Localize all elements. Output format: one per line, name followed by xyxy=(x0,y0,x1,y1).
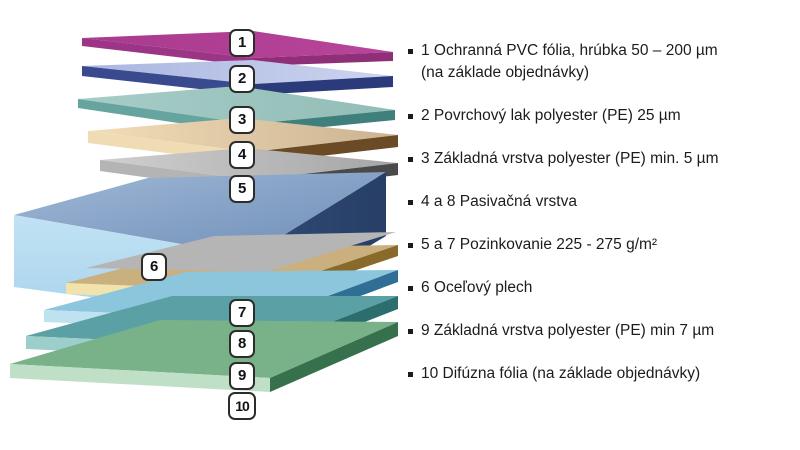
layer-badge-2[interactable]: 2 xyxy=(229,65,255,93)
legend-item-4: 4 a 8 Pasivačná vrstva xyxy=(408,191,796,213)
layer-badge-9[interactable]: 9 xyxy=(229,362,255,390)
legend-item-3-label: 3 Základná vrstva polyester (PE) min. 5 … xyxy=(421,148,796,170)
layer-badge-8[interactable]: 8 xyxy=(229,330,255,358)
layer-badge-1[interactable]: 1 xyxy=(229,29,255,57)
legend-item-10: 10 Difúzna fólia (na základe objednávky) xyxy=(408,363,796,385)
layer-badge-3[interactable]: 3 xyxy=(229,106,255,134)
bullet-square-icon xyxy=(408,49,413,54)
layer-stack-diagram xyxy=(0,0,400,450)
legend-item-2-label: 2 Povrchový lak polyester (PE) 25 µm xyxy=(421,105,796,127)
layer-legend: 1 Ochranná PVC fólia, hrúbka 50 – 200 µm… xyxy=(408,40,796,406)
bullet-square-icon xyxy=(408,200,413,205)
legend-item-2: 2 Povrchový lak polyester (PE) 25 µm xyxy=(408,105,796,127)
bullet-square-icon xyxy=(408,157,413,162)
legend-item-4-label: 4 a 8 Pasivačná vrstva xyxy=(421,191,796,213)
legend-item-6-label: 6 Oceľový plech xyxy=(421,277,796,299)
bullet-square-icon xyxy=(408,286,413,291)
legend-item-3: 3 Základná vrstva polyester (PE) min. 5 … xyxy=(408,148,796,170)
legend-item-1: 1 Ochranná PVC fólia, hrúbka 50 – 200 µm… xyxy=(408,40,796,84)
layer-badge-7[interactable]: 7 xyxy=(229,299,255,327)
bullet-square-icon xyxy=(408,372,413,377)
bullet-square-icon xyxy=(408,329,413,334)
legend-item-10-label: 10 Difúzna fólia (na základe objednávky) xyxy=(421,363,796,385)
layer-badge-10[interactable]: 10 xyxy=(228,392,256,420)
legend-item-1-label: 1 Ochranná PVC fólia, hrúbka 50 – 200 µm… xyxy=(421,40,796,84)
bullet-square-icon xyxy=(408,114,413,119)
bullet-square-icon xyxy=(408,243,413,248)
diagram-page: 1 2 3 4 5 6 7 8 9 10 1 Ochranná PVC fóli… xyxy=(0,0,800,450)
legend-item-6: 6 Oceľový plech xyxy=(408,277,796,299)
legend-item-9: 9 Základná vrstva polyester (PE) min 7 µ… xyxy=(408,320,796,342)
legend-item-5: 5 a 7 Pozinkovanie 225 - 275 g/m² xyxy=(408,234,796,256)
legend-item-5-label: 5 a 7 Pozinkovanie 225 - 275 g/m² xyxy=(421,234,796,256)
legend-item-9-label: 9 Základná vrstva polyester (PE) min 7 µ… xyxy=(421,320,796,342)
layer-badge-6[interactable]: 6 xyxy=(141,253,167,281)
layer-badge-5[interactable]: 5 xyxy=(229,175,255,203)
layer-badge-4[interactable]: 4 xyxy=(229,141,255,169)
